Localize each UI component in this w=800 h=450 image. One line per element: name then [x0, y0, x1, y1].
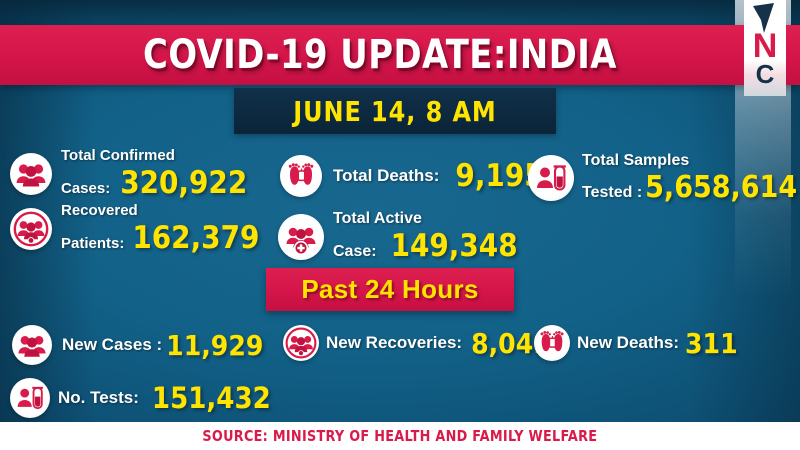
stat-label: No. Tests: [58, 388, 139, 407]
stat-label-line2: Cases: [61, 181, 110, 198]
stat-text-block: Total Active Case: 149,348 [333, 210, 518, 264]
stat-total-confirmed-cases: Total Confirmed Cases: 320,922 [10, 148, 247, 201]
people-medical-cross-icon [278, 214, 324, 260]
stat-value: 162,379 [132, 220, 259, 256]
channel-logo[interactable]: N C [744, 0, 786, 96]
stat-text-block: Total Confirmed Cases: 320,922 [61, 148, 247, 201]
stat-label: New Cases : [62, 335, 162, 354]
stat-no-tests: No. Tests: 151,432 [10, 378, 271, 418]
toe-tag-feet-icon [534, 325, 570, 361]
stat-value: 149,348 [391, 228, 518, 264]
stat-recovered-patients: Recovered Patients: 162,379 [10, 203, 259, 256]
stat-value: 311 [685, 327, 738, 360]
page-title: COVID-19 UPDATE:INDIA [23, 25, 737, 85]
people-recovered-icon [10, 208, 52, 250]
stat-label-line2: Case: [333, 243, 377, 261]
stat-label-line1: Recovered [61, 203, 259, 220]
person-test-tube-icon [10, 378, 50, 418]
svg-text:C: C [756, 59, 775, 89]
stat-value: 320,922 [120, 165, 247, 201]
people-recovered-icon [283, 325, 319, 361]
stat-label-line2: Patients: [61, 236, 124, 253]
stat-label-line1: Total Active [333, 210, 518, 228]
stat-label-line1: Total Confirmed [61, 148, 247, 165]
people-group-icon [10, 153, 52, 195]
people-group-icon [12, 325, 52, 365]
stat-text-block: Recovered Patients: 162,379 [61, 203, 259, 256]
stat-value: 5,658,614 [645, 170, 797, 205]
stat-label: New Recoveries: [326, 333, 462, 352]
stat-label-line1: Total Samples [582, 152, 797, 170]
past-24-hours-label: Past 24 Hours [266, 268, 514, 311]
source-bar: SOURCE: MINISTRY OF HEALTH AND FAMILY WE… [0, 422, 800, 450]
stat-total-active-case: Total Active Case: 149,348 [278, 210, 518, 264]
stat-total-samples-tested: Total Samples Tested : 5,658,614 [528, 152, 797, 205]
stat-new-deaths: New Deaths: 311 [534, 325, 738, 361]
infographic-canvas: COVID-19 UPDATE:INDIA JUNE 14, 8 AM N C … [0, 0, 800, 450]
person-test-tube-icon [528, 155, 574, 201]
stat-value: 151,432 [152, 381, 271, 415]
datetime-label: JUNE 14, 8 AM [242, 88, 548, 134]
stat-label: New Deaths: [577, 333, 679, 352]
logo-mark-icon: N C [744, 0, 786, 96]
stat-label: Total Deaths: [333, 166, 439, 185]
toe-tag-feet-icon [280, 155, 322, 197]
stat-label-line2: Tested : [582, 184, 642, 202]
stat-new-recoveries: New Recoveries: 8,049 [283, 325, 551, 361]
stat-total-deaths: Total Deaths: 9,195 [280, 155, 544, 197]
stat-text-block: Total Samples Tested : 5,658,614 [582, 152, 797, 205]
stat-new-cases: New Cases : 11,929 [12, 325, 263, 365]
source-label: SOURCE: MINISTRY OF HEALTH AND FAMILY WE… [203, 427, 598, 445]
stat-value: 11,929 [166, 329, 263, 362]
